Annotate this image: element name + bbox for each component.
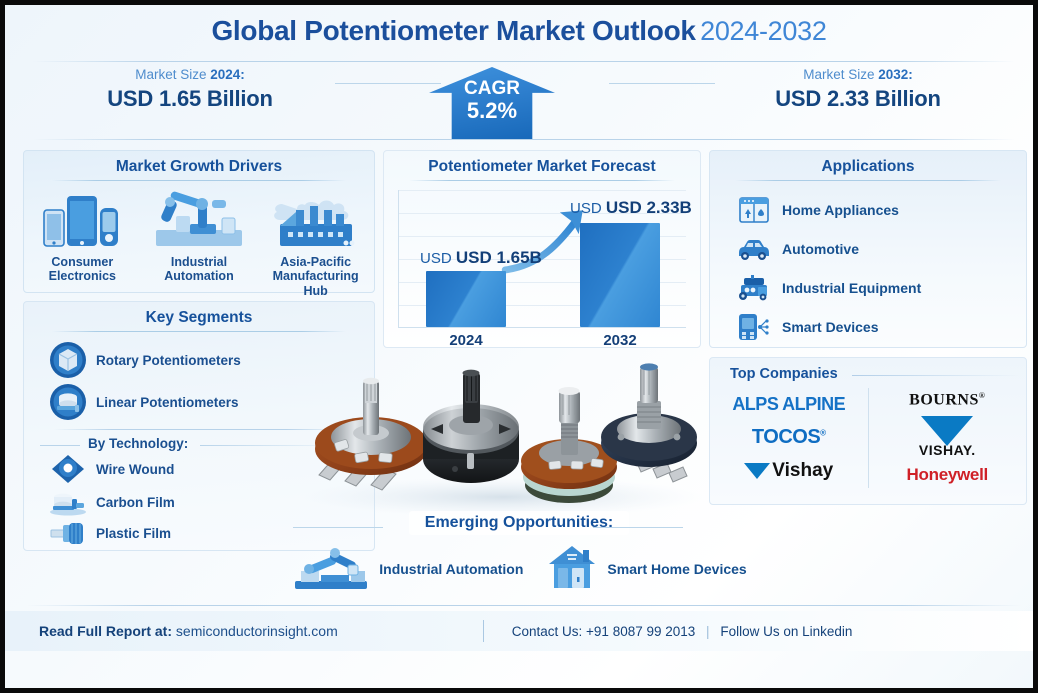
driver-1-line2: Automation <box>144 269 254 283</box>
application-label: Home Appliances <box>782 202 899 218</box>
company-logo-alps-alpine: ALPS ALPINE <box>732 394 845 415</box>
ms-2024-prefix: Market Size <box>135 67 210 82</box>
emerging-item-industrial-automation: Industrial Automation <box>291 541 523 596</box>
applications-panel: Applications Home Appliances <box>709 150 1027 348</box>
company-bourns-text: BOURNS <box>909 392 979 409</box>
drivers-row: Consumer Electronics <box>24 188 374 298</box>
companies-heading: Top Companies <box>730 366 1026 382</box>
robot-arm-icon <box>144 188 254 250</box>
driver-0-line2: Electronics <box>27 269 137 283</box>
company-tocos-text: TOCOS <box>752 426 820 448</box>
emerging-label: Industrial Automation <box>379 561 523 577</box>
market-size-2024-block: Market Size 2024: USD 1.65 Billion <box>25 67 355 112</box>
company-logo-vishay-right: VISHAY. <box>919 416 976 458</box>
smart-device-icon <box>734 312 774 342</box>
x-tick-2024: 2024 <box>426 332 506 349</box>
infographic-canvas: Global Potentiometer Market Outlook 2024… <box>0 0 1038 693</box>
company-bourns-mark: ® <box>979 391 985 400</box>
title-main-text: Global Potentiometer Market Outlook <box>211 15 695 46</box>
divider-footer-top <box>27 605 1021 606</box>
washing-machine-icon <box>734 196 774 224</box>
market-size-2024-value: USD 1.65 Billion <box>25 86 355 112</box>
market-size-2032-block: Market Size 2032: USD 2.33 Billion <box>693 67 1023 112</box>
company-vishay-text: Vishay <box>772 460 833 482</box>
driver-consumer-electronics: Consumer Electronics <box>27 188 137 298</box>
footer-follow[interactable]: Follow Us on Linkedin <box>720 624 852 639</box>
potentiometer-product-photo <box>297 357 709 517</box>
footer-contact: Contact Us: +91 8087 99 2013 <box>512 624 696 639</box>
potentiometer-2 <box>423 370 519 483</box>
companies-grid: ALPS ALPINE TOCOS® Vishay BOURNS® VISHAY… <box>710 388 1026 488</box>
segments-heading: Key Segments <box>24 302 374 327</box>
gridline <box>398 190 686 191</box>
wire-wound-icon <box>46 453 90 485</box>
house-icon <box>545 542 599 595</box>
driver-asia-pacific: Asia-Pacific Manufacturing Hub <box>261 188 371 298</box>
company-logo-honeywell: Honeywell <box>907 465 988 485</box>
emerging-label: Smart Home Devices <box>607 561 746 577</box>
emerging-rule-right <box>593 527 683 528</box>
application-label: Automotive <box>782 241 859 257</box>
ms-2032-year: 2032: <box>878 67 913 82</box>
top-companies-panel: Top Companies ALPS ALPINE TOCOS® Vishay … <box>709 357 1027 505</box>
rotary-potentiometer-icon <box>46 341 90 379</box>
smartphone-devices-icon <box>27 188 137 250</box>
company-logo-tocos: TOCOS® <box>752 426 826 449</box>
drivers-heading: Market Growth Drivers <box>24 151 374 176</box>
bar-2032 <box>580 223 660 327</box>
divider-top <box>33 61 1015 62</box>
ms-2032-prefix: Market Size <box>803 67 878 82</box>
applications-heading: Applications <box>710 151 1026 176</box>
company-vishay2-text: VISHAY. <box>919 442 976 458</box>
technology-label: Wire Wound <box>96 462 174 477</box>
emerging-rule-left <box>293 527 383 528</box>
cagr-badge: CAGR 5.2% <box>429 67 555 139</box>
market-size-2032-label: Market Size 2032: <box>693 67 1023 82</box>
footer-bar: Read Full Report at: semiconductorinsigh… <box>5 611 1033 651</box>
emerging-heading: Emerging Opportunities: <box>409 511 629 535</box>
chart-x-axis <box>398 327 686 328</box>
driver-2-line1: Asia-Pacific <box>261 255 371 269</box>
emerging-opportunities-section: Emerging Opportunities: <box>5 511 1033 596</box>
driver-1-line1: Industrial <box>144 255 254 269</box>
industrial-machine-icon <box>734 274 774 302</box>
divider-header-bottom <box>33 139 1015 140</box>
linear-potentiometer-icon <box>46 383 90 421</box>
market-size-2024-label: Market Size 2024: <box>25 67 355 82</box>
application-item: Home Appliances <box>734 190 1026 229</box>
driver-label-0: Consumer Electronics <box>27 255 137 284</box>
page-title: Global Potentiometer Market Outlook 2024… <box>5 15 1033 47</box>
companies-column-left: ALPS ALPINE TOCOS® Vishay <box>710 388 869 488</box>
driver-industrial-automation: Industrial Automation <box>144 188 254 298</box>
factory-icon <box>261 188 371 250</box>
cagr-label: CAGR <box>464 79 520 98</box>
footer-pipe: | <box>706 624 710 639</box>
segment-label: Linear Potentiometers <box>96 395 239 410</box>
chart-y-axis <box>398 190 399 328</box>
company-tocos-mark: ® <box>820 428 825 437</box>
market-forecast-chart-panel: Potentiometer Market Forecast <box>383 150 701 348</box>
application-label: Industrial Equipment <box>782 280 921 296</box>
company-logo-vishay-left: Vishay <box>744 460 833 482</box>
chart-title: Potentiometer Market Forecast <box>384 151 700 176</box>
application-label: Smart Devices <box>782 319 879 335</box>
footer-url[interactable]: semiconductorinsight.com <box>176 623 338 639</box>
application-item: Industrial Equipment <box>734 268 1026 307</box>
footer-contact-group: Contact Us: +91 8087 99 2013 | Follow Us… <box>512 624 853 639</box>
car-icon <box>734 237 774 261</box>
companies-column-right: BOURNS® VISHAY. Honeywell <box>869 388 1027 488</box>
driver-label-1: Industrial Automation <box>144 255 254 284</box>
application-item: Smart Devices <box>734 307 1026 346</box>
market-growth-drivers-panel: Market Growth Drivers <box>23 150 375 293</box>
bar-value-2032: USD 2.33B <box>606 198 692 217</box>
applications-list: Home Appliances Automotive <box>734 190 1026 346</box>
footer-read-label: Read Full Report at: <box>39 623 172 639</box>
market-size-2032-value: USD 2.33 Billion <box>693 86 1023 112</box>
emerging-item-smart-home: Smart Home Devices <box>545 542 746 595</box>
rule-left <box>335 83 441 84</box>
title-years-text: 2024-2032 <box>700 16 826 46</box>
bar-value-2024: USD 1.65B <box>456 248 542 267</box>
emerging-heading-wrap: Emerging Opportunities: <box>5 511 1033 535</box>
driver-2-line2: Manufacturing Hub <box>261 269 371 298</box>
application-item: Automotive <box>734 229 1026 268</box>
emerging-items: Industrial Automation Smart Home Devices <box>5 541 1033 596</box>
vishay-triangle-icon <box>744 463 770 479</box>
driver-label-2: Asia-Pacific Manufacturing Hub <box>261 255 371 298</box>
robot-arm-icon <box>291 541 371 596</box>
bar-2024 <box>426 271 506 327</box>
x-tick-2032: 2032 <box>580 332 660 349</box>
company-logo-bourns: BOURNS® <box>909 391 985 409</box>
cagr-value: 5.2% <box>467 98 517 123</box>
footer-separator <box>483 620 484 642</box>
ms-2024-year: 2024: <box>210 67 245 82</box>
technology-label: Carbon Film <box>96 495 175 510</box>
bar-label-2024: USD USD 1.65B <box>420 248 542 268</box>
driver-0-line1: Consumer <box>27 255 137 269</box>
potentiometer-1 <box>315 378 427 490</box>
bar-label-2032: USD USD 2.33B <box>570 198 692 218</box>
segment-label: Rotary Potentiometers <box>96 353 241 368</box>
chart-plot-area: USD USD 1.65B 2024 USD USD 2.33B 2032 <box>398 190 686 328</box>
footer-read-report: Read Full Report at: semiconductorinsigh… <box>39 623 338 639</box>
